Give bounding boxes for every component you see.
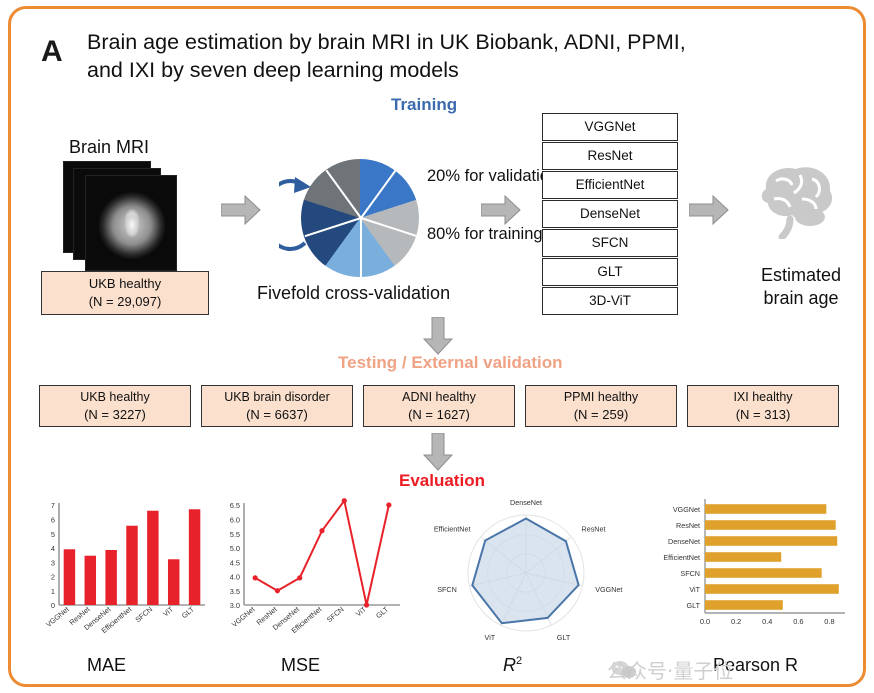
svg-text:4.0: 4.0 [230, 573, 240, 582]
data-point [386, 502, 391, 507]
model-item-resnet: ResNet [542, 142, 678, 170]
svg-text:6.5: 6.5 [230, 501, 240, 510]
svg-text:0.0: 0.0 [700, 617, 710, 626]
data-point [364, 602, 369, 607]
svg-text:EfficientNet: EfficientNet [434, 525, 471, 534]
bar [705, 504, 826, 514]
svg-text:0.8: 0.8 [824, 617, 834, 626]
test-dataset-row: UKB healthy (N = 3227) UKB brain disorde… [39, 385, 839, 427]
model-item-densenet: DenseNet [542, 200, 678, 228]
bar [705, 584, 839, 594]
model-item-sfcn: SFCN [542, 229, 678, 257]
svg-text:SFCN: SFCN [325, 605, 346, 624]
dataset-name: UKB brain disorder [224, 389, 330, 406]
svg-text:5.0: 5.0 [230, 544, 240, 553]
brain-mri-title: Brain MRI [69, 137, 149, 158]
arrow-right-icon [689, 195, 729, 225]
model-item-glt: GLT [542, 258, 678, 286]
svg-text:GLT: GLT [374, 604, 391, 620]
svg-text:GLT: GLT [687, 601, 701, 610]
data-point [253, 575, 258, 580]
test-dataset-ukb-healthy: UKB healthy (N = 3227) [39, 385, 191, 427]
bar [705, 552, 781, 562]
line-series [255, 501, 389, 605]
chart-pearson-r: VGGNetResNetDenseNetEfficientNetSFCNViTG… [633, 491, 863, 663]
dataset-name: IXI healthy [733, 389, 792, 406]
svg-text:DenseNet: DenseNet [668, 537, 700, 546]
arrow-right-icon [481, 195, 521, 225]
svg-text:0.2: 0.2 [731, 617, 741, 626]
svg-text:ResNet: ResNet [582, 525, 606, 534]
dataset-name: PPMI healthy [564, 389, 638, 406]
output-label-line-2: brain age [746, 287, 856, 310]
stage-label-training: Training [391, 95, 457, 115]
dataset-name: ADNI healthy [402, 389, 476, 406]
arrow-down-icon [423, 317, 453, 355]
radar-area [472, 519, 578, 624]
arrow-right-icon [221, 195, 261, 225]
figure-title-line-1: Brain age estimation by brain MRI in UK … [87, 29, 787, 57]
svg-text:VGGNet: VGGNet [595, 585, 622, 594]
bar [705, 536, 837, 546]
training-cohort-box: UKB healthy (N = 29,097) [41, 271, 209, 315]
chart-title-r2: R2 [503, 655, 522, 676]
figure-title-line-2: and IXI by seven deep learning models [87, 57, 787, 85]
svg-text:1: 1 [51, 587, 55, 596]
test-dataset-adni-healthy: ADNI healthy (N = 1627) [363, 385, 515, 427]
svg-text:SFCN: SFCN [133, 605, 154, 624]
bar [64, 549, 75, 605]
test-dataset-ixi-healthy: IXI healthy (N = 313) [687, 385, 839, 427]
svg-text:5: 5 [51, 530, 55, 539]
test-dataset-ppmi-healthy: PPMI healthy (N = 259) [525, 385, 677, 427]
data-point [319, 528, 324, 533]
dataset-n: (N = 1627) [408, 406, 470, 424]
model-list: VGGNet ResNet EfficientNet DenseNet SFCN… [542, 113, 678, 316]
svg-text:4.5: 4.5 [230, 558, 240, 567]
svg-text:0.6: 0.6 [793, 617, 803, 626]
watermark-text: 公众号·量子位 [607, 655, 733, 684]
chart-title-mae: MAE [87, 655, 126, 676]
data-point [342, 498, 347, 503]
training-cohort-n: (N = 29,097) [89, 293, 162, 311]
chart-r2-radar: DenseNetResNetVGGNetGLTViTSFCNEfficientN… [408, 491, 638, 666]
stage-label-evaluation: Evaluation [399, 471, 485, 491]
svg-text:0: 0 [51, 601, 55, 610]
pie-label-validation: 20% for validation [427, 167, 558, 186]
svg-text:4: 4 [51, 544, 55, 553]
bar [189, 509, 200, 605]
brain-mri-image-stack [63, 161, 211, 273]
data-point [275, 588, 280, 593]
svg-text:GLT: GLT [557, 633, 571, 642]
bar [168, 559, 179, 605]
output-label-line-1: Estimated [746, 264, 856, 287]
svg-text:6.0: 6.0 [230, 515, 240, 524]
chart-title-mse: MSE [281, 655, 320, 676]
svg-text:0.4: 0.4 [762, 617, 772, 626]
model-item-vggnet: VGGNet [542, 113, 678, 141]
svg-text:DenseNet: DenseNet [510, 498, 542, 507]
model-item-3dvit: 3D-ViT [542, 287, 678, 315]
bar [147, 511, 158, 605]
data-point [297, 575, 302, 580]
svg-text:ViT: ViT [485, 633, 496, 642]
svg-text:7: 7 [51, 501, 55, 510]
dataset-n: (N = 6637) [246, 406, 308, 424]
svg-text:2: 2 [51, 573, 55, 582]
test-dataset-ukb-brain-disorder: UKB brain disorder (N = 6637) [201, 385, 353, 427]
panel-letter: A [41, 35, 63, 69]
svg-text:VGGNet: VGGNet [673, 505, 700, 514]
bar [705, 520, 836, 530]
chart-mse: 3.03.54.04.55.05.56.06.5VGGNetResNetDens… [208, 495, 408, 655]
svg-text:VGGNet: VGGNet [44, 605, 71, 629]
bar [705, 568, 822, 578]
svg-text:3.5: 3.5 [230, 587, 240, 596]
dataset-n: (N = 3227) [84, 406, 146, 424]
svg-text:ViT: ViT [689, 585, 700, 594]
svg-text:EfficientNet: EfficientNet [663, 553, 700, 562]
stage-label-testing: Testing / External validation [338, 353, 563, 373]
svg-text:SFCN: SFCN [437, 585, 457, 594]
bar [105, 550, 116, 605]
bar [705, 600, 783, 610]
cross-validation-caption: Fivefold cross-validation [257, 283, 450, 304]
svg-text:ViT: ViT [161, 604, 175, 618]
svg-text:6: 6 [51, 515, 55, 524]
training-cohort-name: UKB healthy [89, 275, 161, 293]
dataset-n: (N = 259) [574, 406, 629, 424]
model-item-efficientnet: EfficientNet [542, 171, 678, 199]
bar [85, 556, 96, 605]
svg-text:SFCN: SFCN [680, 569, 700, 578]
chart-mae: 01234567VGGNetResNetDenseNetEfficientNet… [33, 495, 213, 655]
arrow-down-icon [423, 433, 453, 471]
svg-text:GLT: GLT [180, 604, 197, 620]
figure-title: Brain age estimation by brain MRI in UK … [87, 29, 787, 84]
svg-text:3: 3 [51, 558, 55, 567]
pie-label-training: 80% for training [427, 225, 543, 244]
bar [126, 526, 137, 605]
dataset-name: UKB healthy [80, 389, 149, 406]
cross-validation-pie-chart [301, 159, 421, 279]
svg-text:ResNet: ResNet [676, 521, 700, 530]
output-label: Estimated brain age [746, 264, 856, 311]
cv-rotation-arrow-icon [279, 171, 313, 257]
figure-panel: A Brain age estimation by brain MRI in U… [8, 6, 866, 687]
dataset-n: (N = 313) [736, 406, 791, 424]
svg-text:3.0: 3.0 [230, 601, 240, 610]
svg-text:5.5: 5.5 [230, 530, 240, 539]
brain-icon [746, 159, 842, 239]
mri-slice-icon [85, 175, 177, 271]
